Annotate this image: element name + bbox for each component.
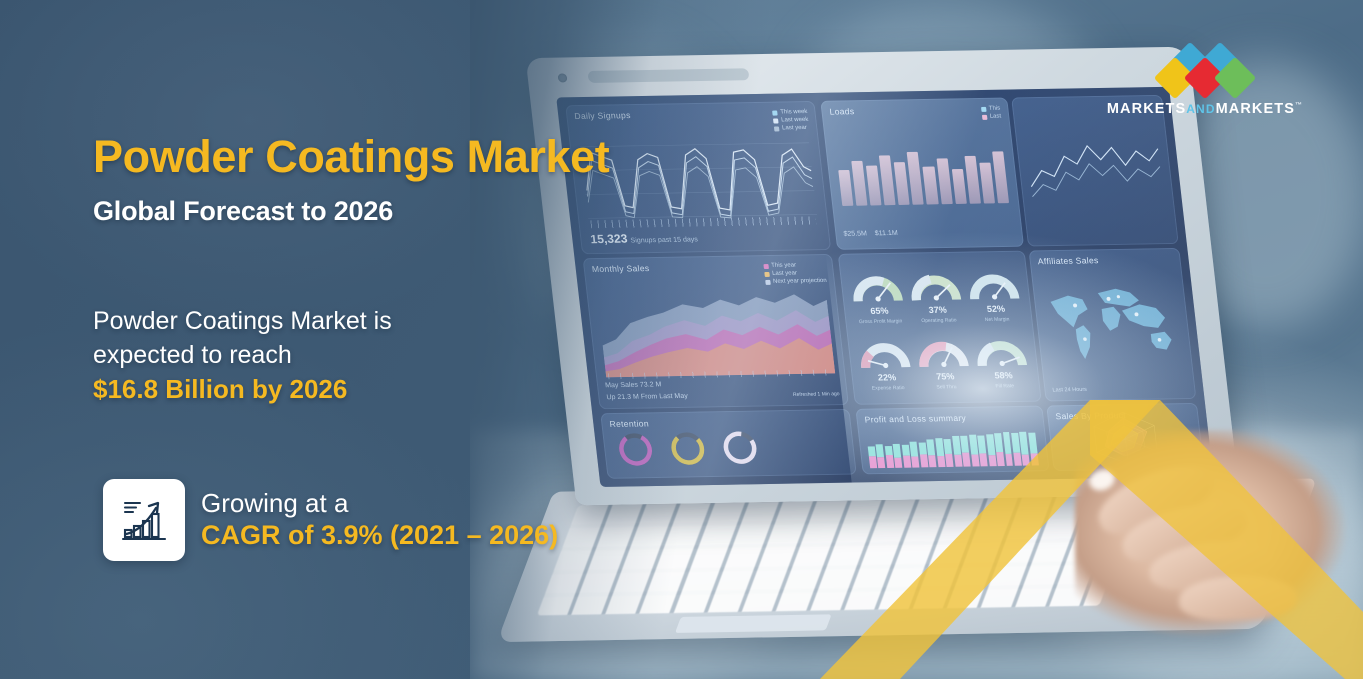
stacked-bar-chart bbox=[866, 428, 1039, 469]
panel-footnote: Last 24 Hours bbox=[1052, 387, 1087, 394]
panel-title: Affiliates Sales bbox=[1037, 255, 1099, 266]
logo-wordmark: MARKETSANDMARKETS™ bbox=[1105, 101, 1305, 117]
gauge: 37%Operating Ratio bbox=[903, 262, 969, 330]
panel-affiliates-sales: Affiliates Sales bbox=[1029, 248, 1197, 402]
dashboard-screen: Daily Signups This week Last week Last y… bbox=[556, 87, 1213, 487]
fingernail bbox=[1086, 466, 1117, 494]
metric-value: 15,323Signups past 15 days bbox=[590, 230, 699, 246]
logo-text-and: AND bbox=[1186, 102, 1215, 116]
description-block: Powder Coatings Market is expected to re… bbox=[93, 304, 513, 407]
x-axis-ticks bbox=[590, 216, 816, 228]
gauge: 65%Gross Profit Margin bbox=[845, 263, 911, 331]
gauge: 75%Sell Thru bbox=[911, 328, 977, 396]
keyboard bbox=[537, 495, 1141, 615]
panel-footnote: Refreshed 1 Min ago bbox=[793, 391, 840, 398]
chart-legend: This Last bbox=[981, 106, 1002, 122]
world-map bbox=[1040, 274, 1185, 368]
metric-value: May Sales 73.2 M bbox=[605, 381, 662, 389]
donut-chart bbox=[614, 430, 656, 468]
trackpad bbox=[675, 614, 832, 633]
panel-title: Loads bbox=[829, 106, 855, 116]
gauge-grid: 65%Gross Profit Margin 37%Operating Rati… bbox=[845, 261, 1035, 397]
panel-top-right bbox=[1011, 95, 1179, 247]
panel-monthly-sales: Monthly Sales This year Last year Next y… bbox=[583, 254, 849, 409]
metric-value: $25.5M $11.1M bbox=[843, 230, 898, 238]
metric-subtext: Up 21.3 M From Last May bbox=[606, 393, 688, 401]
donut-group bbox=[614, 428, 761, 468]
market-value-highlight: $16.8 Billion by 2026 bbox=[93, 372, 513, 407]
donut-chart bbox=[719, 428, 761, 466]
chart-legend: This week Last week Last year bbox=[772, 109, 810, 133]
page-subtitle: Global Forecast to 2026 bbox=[93, 196, 393, 227]
line-chart bbox=[1023, 125, 1167, 211]
marketing-banner: Daily Signups This week Last week Last y… bbox=[0, 0, 1363, 679]
line-chart bbox=[578, 127, 817, 222]
background-bokeh bbox=[800, 0, 1100, 200]
area-chart bbox=[596, 280, 836, 377]
panel-title: Retention bbox=[609, 418, 649, 429]
panel-gauges: 65%Gross Profit Margin 37%Operating Rati… bbox=[838, 251, 1042, 405]
background-bokeh bbox=[510, 40, 740, 340]
logo-text-markets-2: MARKETS bbox=[1216, 101, 1295, 117]
growth-bar-chart-arrow-icon bbox=[103, 479, 185, 561]
donut-chart bbox=[667, 429, 709, 467]
cagr-line-1: Growing at a bbox=[201, 488, 558, 520]
webcam-icon bbox=[558, 73, 568, 82]
panel-retention: Retention bbox=[600, 409, 857, 479]
panel-loads: Loads This Last $25.5M bbox=[820, 98, 1024, 250]
description-line-1: Powder Coatings Market is bbox=[93, 304, 513, 338]
cagr-line-2: CAGR of 3.9% (2021 – 2026) bbox=[201, 519, 558, 552]
panel-title: Monthly Sales bbox=[591, 263, 650, 274]
marketsandmarkets-logo[interactable]: MARKETSANDMARKETS™ bbox=[1105, 48, 1305, 117]
x-axis-months bbox=[608, 369, 834, 379]
gauge: 22%Expense Ratio bbox=[852, 329, 918, 397]
cagr-block: Growing at a CAGR of 3.9% (2021 – 2026) bbox=[103, 479, 558, 561]
screen-reflection bbox=[556, 87, 1213, 487]
description-line-2: expected to reach bbox=[93, 338, 513, 372]
gauge: 52%Net Margin bbox=[961, 261, 1027, 329]
gauge: 58%Fill Rate bbox=[969, 327, 1035, 395]
panel-title: Profit and Loss summary bbox=[864, 413, 966, 425]
cagr-text: Growing at a CAGR of 3.9% (2021 – 2026) bbox=[201, 488, 558, 553]
logo-diamonds bbox=[1144, 48, 1266, 96]
panel-title: Sales By Product bbox=[1055, 410, 1126, 421]
panel-title: Daily Signups bbox=[574, 110, 631, 121]
chart-legend: This year Last year Next year projection bbox=[763, 262, 827, 287]
logo-text-markets: MARKETS bbox=[1107, 101, 1186, 117]
panel-profit-loss: Profit and Loss summary bbox=[855, 406, 1049, 475]
hand-typing bbox=[1075, 430, 1363, 679]
trademark-symbol: ™ bbox=[1295, 102, 1303, 109]
page-title: Powder Coatings Market bbox=[93, 131, 609, 183]
bar-chart bbox=[835, 141, 1009, 206]
lid-speaker-grille bbox=[587, 68, 749, 83]
